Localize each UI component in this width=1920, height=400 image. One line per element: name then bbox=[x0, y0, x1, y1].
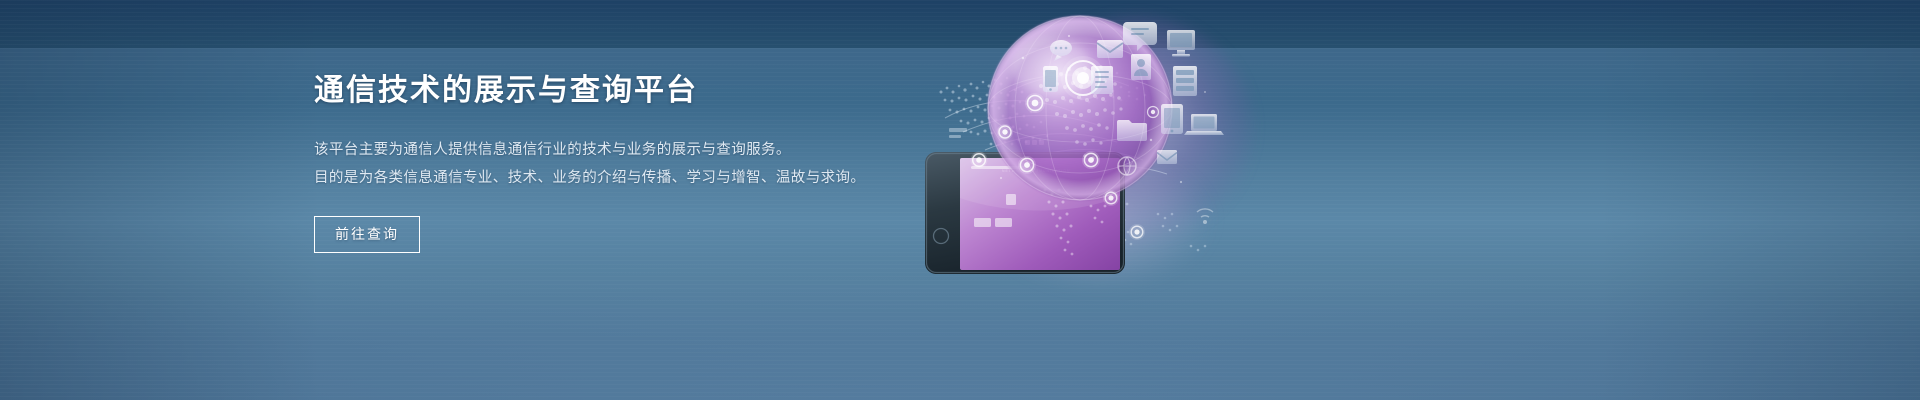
person-badge-icon bbox=[1131, 54, 1151, 80]
envelope-icon bbox=[1097, 40, 1123, 58]
go-to-query-button[interactable]: 前往查询 bbox=[314, 216, 420, 253]
signal-waves-icon bbox=[1197, 209, 1213, 224]
network-node bbox=[1018, 156, 1036, 174]
laptop-icon bbox=[1184, 114, 1224, 135]
globe-network-illustration: BUSINESS bbox=[905, 0, 1245, 290]
banner-description: 该平台主要为通信人提供信息通信行业的技术与业务的展示与查询服务。 目的是为各类信… bbox=[314, 136, 914, 192]
monitor-icon bbox=[1167, 30, 1195, 57]
network-node bbox=[997, 124, 1013, 140]
tablet-icon bbox=[1161, 104, 1183, 134]
right-vignette-overlay bbox=[1600, 0, 1920, 400]
server-rack-icon bbox=[1173, 66, 1197, 96]
network-node bbox=[971, 152, 988, 169]
document-icon bbox=[1091, 66, 1113, 94]
description-line-2: 目的是为各类信息通信专业、技术、业务的介绍与传播、学习与增智、温故与求询。 bbox=[314, 164, 914, 192]
hero-banner: BUSINESS bbox=[0, 0, 1920, 400]
left-vignette-overlay bbox=[0, 0, 320, 400]
network-node bbox=[1082, 151, 1100, 169]
network-node bbox=[1103, 190, 1119, 206]
description-line-1: 该平台主要为通信人提供信息通信行业的技术与业务的展示与查询服务。 bbox=[314, 136, 914, 164]
banner-copy: 通信技术的展示与查询平台 该平台主要为通信人提供信息通信行业的技术与业务的展示与… bbox=[314, 72, 914, 253]
folder-icon bbox=[1117, 120, 1147, 141]
network-node bbox=[1129, 224, 1145, 240]
mail-small-icon bbox=[1157, 150, 1177, 164]
network-node bbox=[1025, 93, 1045, 113]
page-title: 通信技术的展示与查询平台 bbox=[314, 72, 914, 110]
mobile-phone-icon bbox=[1043, 66, 1058, 92]
